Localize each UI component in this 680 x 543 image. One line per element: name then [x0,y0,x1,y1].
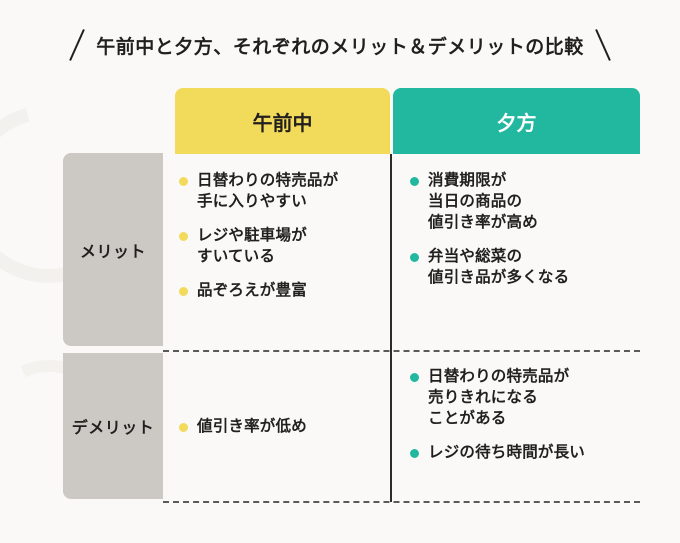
cell-merit-evening: 消費期限が当日の商品の値引き率が高め弁当や総菜の値引き品が多くなる [390,154,640,350]
cell-demerit-morning: 値引き率が低め [163,350,390,502]
table-body: メリット 日替わりの特売品が手に入りやすいレジや駐車場がすいている品ぞろえが豊富… [63,154,640,502]
row-label-demerit-text: デメリット [72,414,155,438]
table-row-demerit: デメリット 値引き率が低め 日替わりの特売品が売りきれになることがあるレジの待ち… [63,350,640,502]
column-header-morning-label: 午前中 [253,107,313,136]
title-right-slash-icon [595,29,611,61]
table-row-merit: メリット 日替わりの特売品が手に入りやすいレジや駐車場がすいている品ぞろえが豊富… [63,154,640,350]
list-item: 日替わりの特売品が売りきれになることがある [410,366,632,429]
row-label-merit-text: メリット [80,238,146,262]
list-item: レジや駐車場がすいている [179,225,382,267]
cell-demerit-evening: 日替わりの特売品が売りきれになることがあるレジの待ち時間が長い [390,350,640,502]
list-item: 日替わりの特売品が手に入りやすい [179,170,382,212]
column-header-evening-label: 夕方 [497,107,537,136]
table-header-row: 午前中 夕方 [63,88,640,154]
row-divider-middle [163,350,640,352]
title-left-slash-icon [69,29,85,61]
column-header-morning: 午前中 [175,88,390,154]
row-label-merit: メリット [63,153,163,346]
bullet-list-merit-morning: 日替わりの特売品が手に入りやすいレジや駐車場がすいている品ぞろえが豊富 [179,170,382,301]
title-bar: 午前中と夕方、それぞれのメリット＆デメリットの比較 [0,28,680,62]
row-label-demerit: デメリット [63,353,163,499]
list-item: 品ぞろえが豊富 [179,280,382,301]
column-header-evening: 夕方 [393,88,640,154]
page-title: 午前中と夕方、それぞれのメリット＆デメリットの比較 [96,32,584,59]
column-divider [390,154,392,502]
bullet-list-demerit-evening: 日替わりの特売品が売りきれになることがあるレジの待ち時間が長い [410,366,632,463]
comparison-table: 午前中 夕方 メリット 日替わりの特売品が手に入りやすいレジや駐車場がすいている… [63,88,640,502]
cell-merit-morning: 日替わりの特売品が手に入りやすいレジや駐車場がすいている品ぞろえが豊富 [163,154,390,350]
table-bottom-divider [163,501,640,503]
list-item: 弁当や総菜の値引き品が多くなる [410,246,632,288]
list-item: 消費期限が当日の商品の値引き率が高め [410,170,632,233]
list-item: 値引き率が低め [179,416,307,437]
list-item: レジの待ち時間が長い [410,442,632,463]
bullet-list-demerit-morning: 値引き率が低め [179,416,307,437]
bullet-list-merit-evening: 消費期限が当日の商品の値引き率が高め弁当や総菜の値引き品が多くなる [410,170,632,288]
